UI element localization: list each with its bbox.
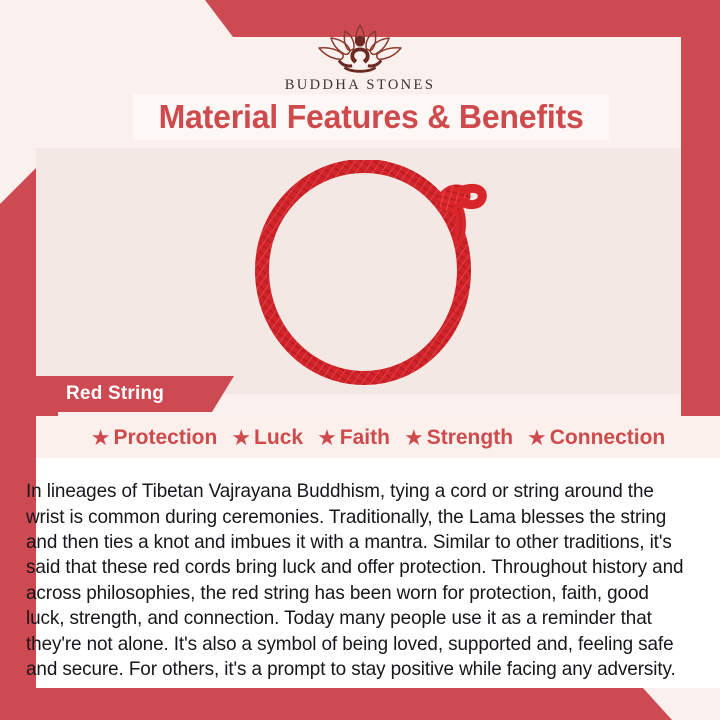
feature-list: ★ Protection ★ Luck ★ Faith ★ Strength ★… (36, 420, 720, 456)
page-title: Material Features & Benefits (158, 98, 583, 136)
product-label: Red String (36, 383, 164, 405)
brand-name: BUDDHA STONES (0, 77, 720, 94)
description-text: In lineages of Tibetan Vajrayana Buddhis… (26, 479, 691, 682)
feature-item: ★ Connection (527, 426, 665, 450)
title-banner: Material Features & Benefits (133, 94, 609, 140)
star-icon: ★ (317, 427, 337, 449)
red-string-bracelet-icon (232, 160, 496, 392)
feature-label: Faith (340, 426, 390, 450)
feature-item: ★ Luck (231, 426, 303, 450)
brand-logo: BUDDHA STONES (0, 22, 720, 94)
infographic-page: BUDDHA STONES Material Features & Benefi… (0, 0, 720, 720)
lotus-meditation-icon (304, 22, 416, 74)
feature-label: Protection (113, 426, 217, 450)
star-icon: ★ (91, 427, 111, 449)
feature-label: Connection (550, 426, 666, 450)
feature-item: ★ Faith (317, 426, 390, 450)
star-icon: ★ (404, 427, 424, 449)
star-icon: ★ (527, 427, 547, 449)
star-icon: ★ (231, 427, 251, 449)
feature-item: ★ Protection (91, 426, 218, 450)
feature-item: ★ Strength (404, 426, 513, 450)
product-image (232, 160, 496, 392)
feature-label: Strength (427, 426, 513, 450)
feature-label: Luck (254, 426, 303, 450)
product-label-ribbon: Red String (36, 376, 234, 412)
frame-bottom-bar (0, 688, 720, 720)
